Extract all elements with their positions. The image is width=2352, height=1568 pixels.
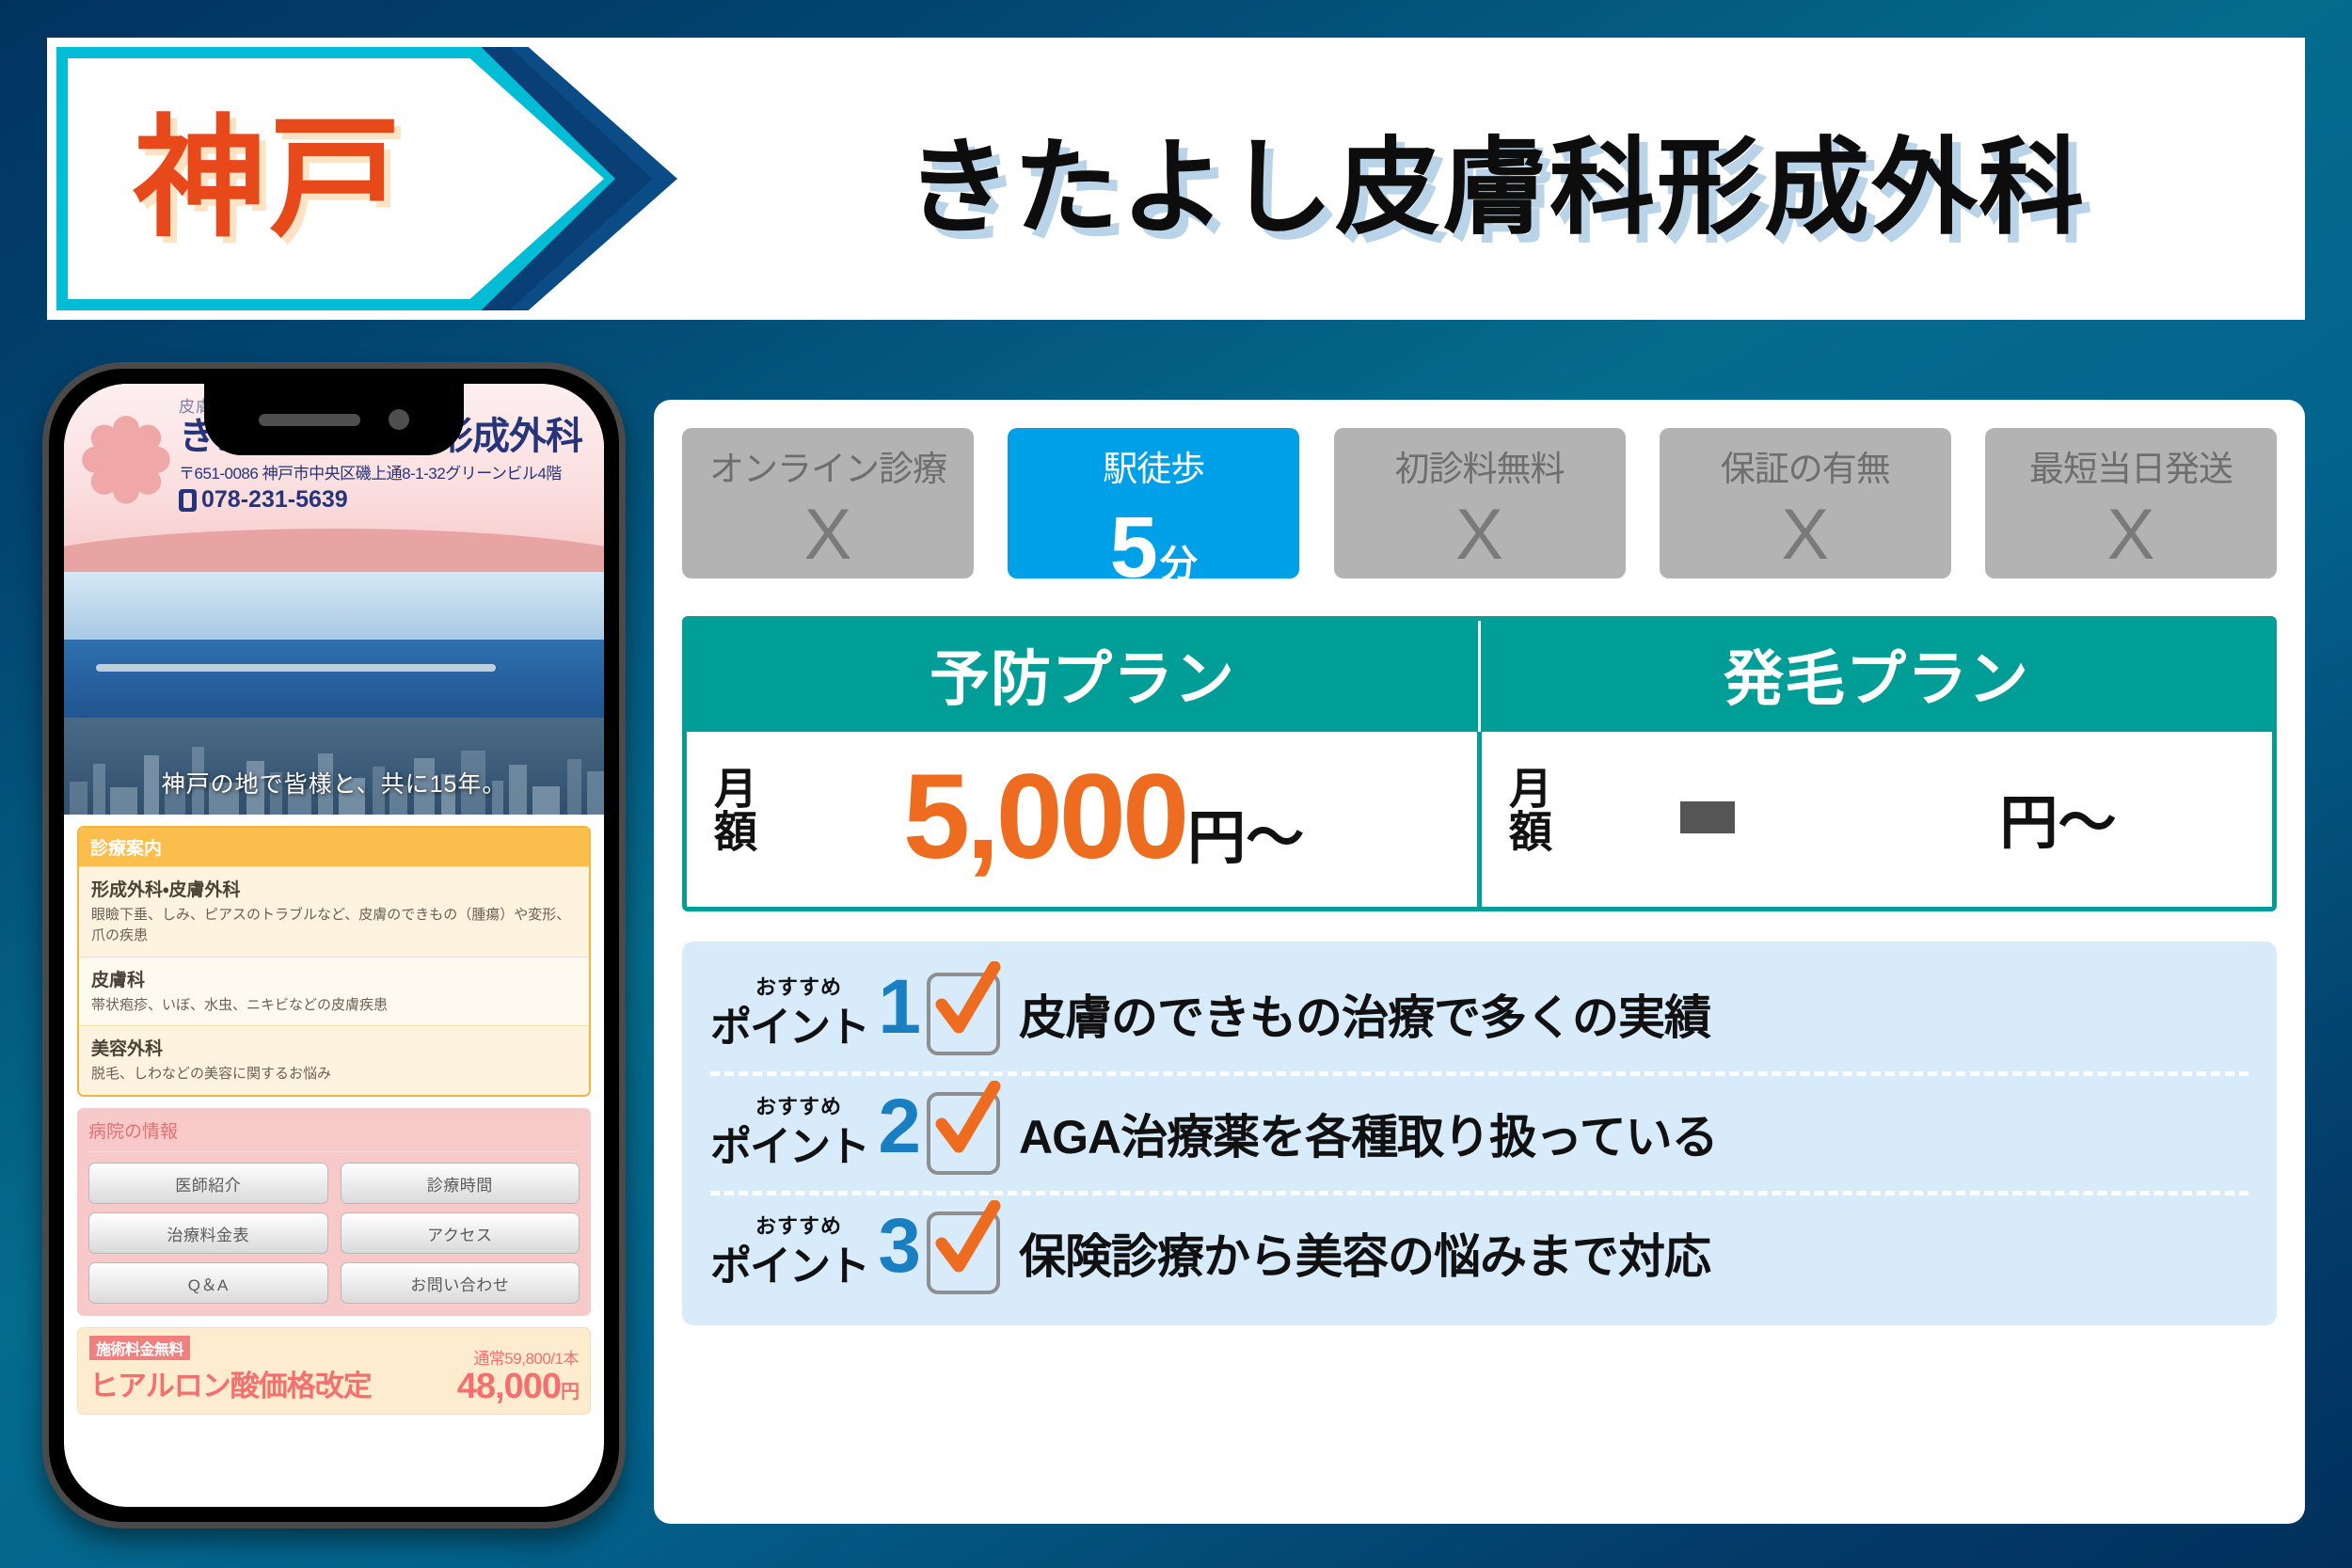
badge-value: 5分 [1008, 491, 1299, 591]
plan-cell-prevention: 月額 5,000円〜 [687, 732, 1482, 907]
city-arrow-badge: 神戸 [56, 47, 677, 310]
badge-value-unit: 分 [1160, 546, 1198, 583]
badge-label: 駅徒歩 [1103, 440, 1204, 491]
service-name: 美容外科 [91, 1035, 577, 1060]
clinic-address: 〒651-0086 神戸市中央区磯上通8-1-32グリーンビル4階 [179, 460, 598, 483]
point-item-1: おすすめ ポイント 1 皮膚のできもの治療で多くの実績 [710, 957, 2249, 1071]
point-number: 3 [878, 1208, 921, 1285]
contact-button[interactable]: お問い合わせ [341, 1262, 580, 1304]
service-desc: 脱毛、しわなどの美容に関するお悩み [91, 1064, 577, 1085]
hospital-info-title: 病院の情報 [88, 1117, 580, 1152]
hero-photo: 神戸の地で皆様と、共に15年。 [64, 572, 604, 815]
promo-new-price: 48,000円 [457, 1369, 579, 1404]
phone-icon [179, 489, 197, 512]
point-badge: おすすめ ポイント 2 [710, 1092, 927, 1175]
feature-badges: オンライン診療 X 駅徒歩 5分 初診料無料 X 保証の有無 X 最短当日発送 … [682, 428, 2277, 578]
points-list: おすすめ ポイント 1 皮膚のできもの治療で多くの実績 おすすめ ポイント 2 … [682, 942, 2277, 1325]
point-number: 1 [878, 969, 921, 1046]
badge-value: X [1660, 491, 1951, 578]
badge-label: 初診料無料 [1395, 440, 1565, 491]
hero-sky [64, 572, 604, 640]
plan-price-yen: 円〜 [1187, 790, 1304, 875]
flower-logo-icon [81, 410, 171, 500]
promo-tag: 施術料金無料 [89, 1336, 190, 1360]
plan-table-header: 予防プラン 発毛プラン [687, 621, 2272, 732]
point-prefix-label: ポイント [710, 1232, 868, 1292]
badge-first-visit-free[interactable]: 初診料無料 X [1334, 428, 1626, 578]
consultation-hours-button[interactable]: 診療時間 [341, 1163, 580, 1204]
promo-new-price-number: 48,000 [457, 1367, 561, 1406]
badge-same-day-shipping[interactable]: 最短当日発送 X [1985, 428, 2277, 578]
badge-station-walk[interactable]: 駅徒歩 5分 [1008, 428, 1299, 578]
badge-value: X [682, 491, 974, 578]
plan-table: 予防プラン 発毛プラン 月額 5,000円〜 月額 円〜 [682, 616, 2277, 911]
price-list-button[interactable]: 治療料金表 [88, 1212, 328, 1254]
qa-button[interactable]: Q＆A [88, 1262, 328, 1304]
badge-online-consult[interactable]: オンライン診療 X [682, 428, 974, 578]
phone-mockup: 皮膚科 形成外科 美容外科 きたよし皮膚科形成外科 〒651-0086 神戸市中… [42, 362, 626, 1528]
point-text: 皮膚のできもの治療で多くの実績 [1019, 980, 1710, 1048]
phone-notch [204, 384, 464, 455]
plan-price-yen: 円〜 [1999, 775, 2116, 860]
promo-yen-unit: 円 [561, 1382, 579, 1402]
badge-label: 保証の有無 [1721, 440, 1890, 491]
services-panel-title: 診療案内 [79, 828, 589, 866]
hero-caption: 神戸の地で皆様と、共に15年。 [64, 766, 604, 800]
point-item-2: おすすめ ポイント 2 AGA治療薬を各種取り扱っている [710, 1071, 2249, 1191]
service-desc: 眼瞼下垂、しみ、ピアスのトラブルなど、皮膚のできもの（腫瘍）や変形、爪の疾患 [91, 905, 577, 946]
point-item-3: おすすめ ポイント 3 保険診療から美容の悩みまで対応 [710, 1191, 2249, 1310]
plan-price-number: 5,000 [903, 757, 1185, 878]
promo-old-price: 通常59,800/1本 [457, 1345, 579, 1369]
hospital-info-buttons: 医師紹介 診療時間 治療料金表 アクセス Q＆A お問い合わせ [88, 1163, 580, 1304]
badge-label: オンライン診療 [709, 440, 946, 491]
dash-icon [1680, 801, 1735, 833]
point-badge: おすすめ ポイント 1 [710, 973, 927, 1055]
promo-title: ヒアルロン酸価格改定 [89, 1362, 372, 1404]
plan-table-body: 月額 5,000円〜 月額 円〜 [687, 732, 2272, 907]
page-header: 神戸 きたよし皮膚科形成外科 [47, 38, 2305, 320]
access-button[interactable]: アクセス [341, 1212, 580, 1254]
main-panel: オンライン診療 X 駅徒歩 5分 初診料無料 X 保証の有無 X 最短当日発送 … [654, 400, 2305, 1524]
clinic-phone[interactable]: 078-231-5639 [179, 486, 598, 514]
promo-left: 施術料金無料 ヒアルロン酸価格改定 [89, 1336, 372, 1404]
page-title: きたよし皮膚科形成外科 [706, 38, 2286, 320]
badge-guarantee[interactable]: 保証の有無 X [1660, 428, 1951, 578]
check-icon [927, 973, 1000, 1055]
badge-value: X [1985, 491, 2277, 578]
city-label: 神戸 [68, 58, 470, 299]
monthly-label: 月額 [711, 766, 755, 869]
plan-header-growth: 発毛プラン [1481, 621, 2272, 732]
service-row[interactable]: 美容外科 脱毛、しわなどの美容に関するお悩み [79, 1025, 589, 1095]
point-text: 保険診療から美容の悩みまで対応 [1019, 1219, 1710, 1287]
service-desc: 帯状疱疹、いぼ、水虫、ニキビなどの皮膚疾患 [91, 995, 577, 1016]
check-icon [927, 1092, 1000, 1175]
point-text: AGA治療薬を各種取り扱っている [1019, 1100, 1718, 1167]
speaker-icon [259, 414, 360, 426]
badge-value: X [1334, 491, 1626, 578]
badge-label: 最短当日発送 [2029, 440, 2233, 491]
plan-price-prevention: 5,000円〜 [755, 757, 1453, 878]
phone-screen: 皮膚科 形成外科 美容外科 きたよし皮膚科形成外科 〒651-0086 神戸市中… [64, 384, 604, 1507]
check-icon [927, 1212, 1000, 1294]
point-prefix-label: ポイント [710, 993, 868, 1053]
clinic-phone-number: 078-231-5639 [201, 486, 348, 514]
monthly-label: 月額 [1506, 766, 1549, 869]
doctor-intro-button[interactable]: 医師紹介 [88, 1163, 328, 1204]
hospital-info-panel: 病院の情報 医師紹介 診療時間 治療料金表 アクセス Q＆A お問い合わせ [77, 1108, 591, 1316]
service-name: 皮膚科 [91, 966, 577, 991]
service-row[interactable]: 皮膚科 帯状疱疹、いぼ、水虫、ニキビなどの皮膚疾患 [79, 957, 589, 1026]
hero-island [96, 664, 496, 672]
services-panel: 診療案内 形成外科・皮膚外科 眼瞼下垂、しみ、ピアスのトラブルなど、皮膚のできも… [77, 826, 591, 1097]
promo-banner[interactable]: 施術料金無料 ヒアルロン酸価格改定 通常59,800/1本 48,000円 [77, 1327, 591, 1415]
service-name: 形成外科・皮膚外科 [91, 876, 577, 901]
point-prefix-label: ポイント [710, 1113, 868, 1173]
service-row[interactable]: 形成外科・皮膚外科 眼瞼下垂、しみ、ピアスのトラブルなど、皮膚のできもの（腫瘍）… [79, 866, 589, 957]
point-badge: おすすめ ポイント 3 [710, 1212, 927, 1294]
point-number: 2 [878, 1088, 921, 1165]
promo-right: 通常59,800/1本 48,000円 [457, 1345, 579, 1404]
badge-value-number: 5 [1110, 504, 1158, 591]
plan-header-prevention: 予防プラン [687, 621, 1481, 732]
camera-icon [389, 409, 409, 430]
plan-cell-growth: 月額 円〜 [1482, 732, 2272, 907]
plan-price-growth: 円〜 [1549, 775, 2248, 860]
